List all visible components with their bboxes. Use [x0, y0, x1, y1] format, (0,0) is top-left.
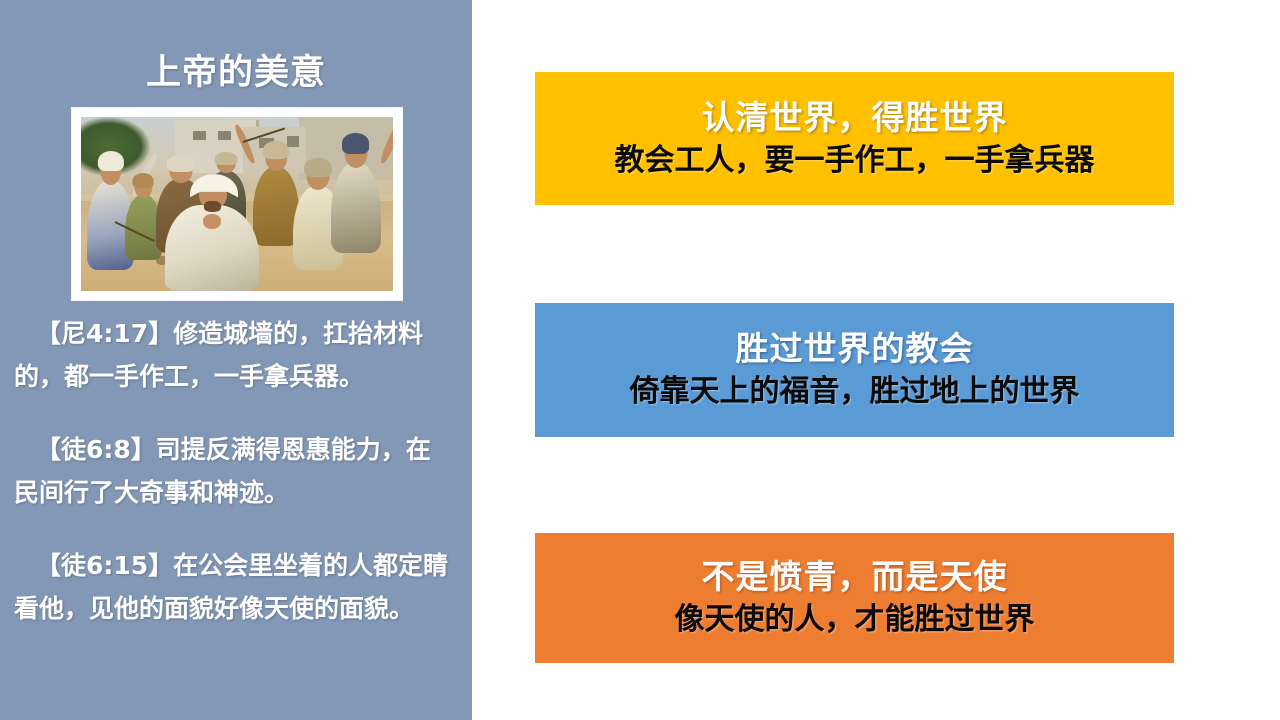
figure-robe — [331, 163, 381, 253]
banner-orange: 不是愤青，而是天使 像天使的人，才能胜过世界 — [535, 533, 1174, 663]
scripture-verse-2: 【徒6:8】司提反满得恩惠能力，在民间行了大奇事和神迹。 — [10, 428, 462, 514]
banner-blue-headline: 胜过世界的教会 — [736, 327, 974, 371]
figure-turban — [304, 158, 332, 177]
scripture-verse-3: 【徒6:15】在公会里坐着的人都定睛看他，见他的面貌好像天使的面貌。 — [10, 544, 462, 630]
figure-turban — [215, 152, 238, 165]
stoning-of-stephen-image — [81, 117, 393, 291]
crowd-figure-7 — [331, 138, 381, 253]
banner-yellow-headline: 认清世界，得胜世界 — [702, 96, 1008, 140]
painting-window-1 — [193, 131, 205, 140]
figure-turban — [342, 133, 370, 154]
figure-turban — [167, 155, 195, 172]
illustration-frame — [72, 108, 402, 300]
figure-turban — [98, 151, 124, 172]
stephen-beard — [204, 201, 222, 211]
scripture-list: 【尼4:17】修造城墙的，扛抬材料的，都一手作工，一手拿兵器。 【徒6:8】司提… — [10, 312, 462, 630]
banner-blue-subtitle: 倚靠天上的福音，胜过地上的世界 — [630, 371, 1080, 413]
page-title: 上帝的美意 — [0, 44, 472, 95]
banner-blue: 胜过世界的教会 倚靠天上的福音，胜过地上的世界 — [535, 303, 1174, 437]
banner-yellow-subtitle: 教会工人，要一手作工，一手拿兵器 — [615, 140, 1095, 182]
banner-orange-headline: 不是愤青，而是天使 — [702, 555, 1008, 599]
sidebar-panel: 上帝的美意 — [0, 0, 472, 720]
banner-orange-subtitle: 像天使的人，才能胜过世界 — [675, 599, 1035, 641]
banner-yellow: 认清世界，得胜世界 教会工人，要一手作工，一手拿兵器 — [535, 72, 1174, 205]
presentation-slide: 上帝的美意 — [0, 0, 1280, 720]
figure-turban — [263, 141, 289, 159]
stephen-figure — [165, 174, 259, 291]
scripture-verse-1: 【尼4:17】修造城墙的，扛抬材料的，都一手作工，一手拿兵器。 — [10, 312, 462, 398]
painting-window-2 — [218, 131, 230, 140]
figure-turban — [133, 173, 154, 188]
